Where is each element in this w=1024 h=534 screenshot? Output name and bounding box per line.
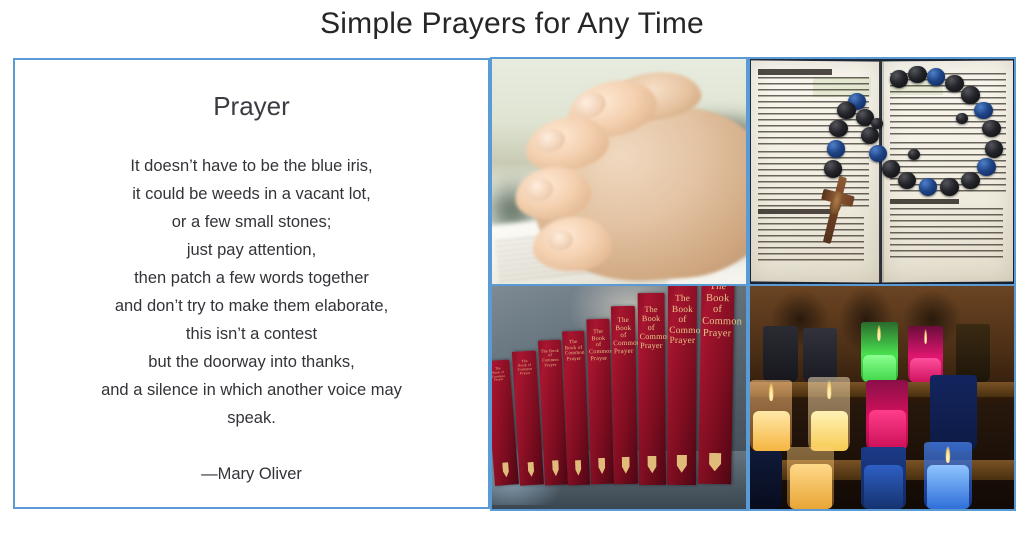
votive-candle [956, 324, 990, 382]
rosary-bead [871, 118, 883, 129]
rosary-bead [908, 149, 920, 160]
rosary-bead [977, 158, 995, 176]
votive-candle [924, 442, 972, 509]
votive-candle [861, 447, 906, 509]
book-spine: The Book of Common Prayer [562, 330, 589, 485]
shield-icon [552, 460, 559, 476]
poem-body: It doesn’t have to be the blue iris, it … [15, 152, 488, 432]
page-title: Simple Prayers for Any Time [0, 4, 1024, 44]
shield-icon [527, 462, 534, 477]
book-spine-label: The Book of Common Prayer [613, 317, 634, 356]
book-spine: The Book of Common Prayer [698, 286, 735, 485]
poem-line: and don’t try to make them elaborate, [33, 292, 470, 320]
rosary-bead [940, 178, 958, 196]
poem-line: or a few small stones; [33, 208, 470, 236]
rosary-bead [956, 113, 968, 124]
votive-candle [808, 377, 850, 451]
book-spine-label: The Book of Common Prayer [669, 294, 696, 347]
photo-praying-hands [490, 57, 748, 286]
book-spine: The Book of Common Prayer [638, 293, 666, 485]
book-spine: The Book of Common Prayer [586, 319, 613, 485]
poem-line: it could be weeds in a vacant lot, [33, 180, 470, 208]
votive-candle [908, 326, 942, 382]
votive-candle [861, 322, 898, 382]
shield-icon [598, 458, 605, 475]
book-spine: The Book of Common Prayer [667, 286, 697, 485]
rosary-bead [985, 140, 1003, 158]
rosary-bead [829, 120, 847, 138]
poem-panel: Prayer It doesn’t have to be the blue ir… [13, 58, 490, 509]
shield-icon [575, 460, 582, 476]
book-spine-label: The Book of Common Prayer [541, 348, 560, 368]
votive-candle [866, 380, 908, 451]
book-spine-label: The Book of Common Prayer [640, 304, 664, 350]
votive-candle [750, 380, 792, 451]
poem-attribution: —Mary Oliver [15, 460, 488, 488]
shield-icon [502, 462, 509, 477]
rosary-bead [827, 140, 845, 158]
book-spine-label: The Book of Common Prayer [589, 329, 609, 363]
poem-line: this isn’t a contest [33, 320, 470, 348]
rosary-bead [882, 160, 900, 178]
rosary-bead [908, 66, 926, 84]
photo-prayer-book-rosary [748, 57, 1016, 286]
poem-line: then patch a few words together [33, 264, 470, 292]
rosary-bead [927, 68, 945, 86]
rosary-bead [974, 102, 992, 120]
poem-line: just pay attention, [33, 236, 470, 264]
rosary-bead [837, 102, 855, 120]
votive-candle [787, 447, 835, 509]
book-spine: The Book of Common Prayer [611, 306, 638, 485]
rosary-bead [869, 145, 887, 163]
photo-votive-candles [748, 284, 1016, 511]
votive-candle [750, 451, 782, 509]
book-spine-label: The Book of Common Prayer [565, 340, 584, 363]
votive-candle [803, 328, 837, 382]
poem-line: It doesn’t have to be the blue iris, [33, 152, 470, 180]
rosary-bead [961, 86, 979, 104]
votive-candle [930, 375, 978, 451]
photo-book-of-common-prayer-row: The Book of Common Prayer The Book of Co… [490, 284, 748, 511]
rosary-bead [961, 172, 979, 190]
votive-candle [763, 326, 797, 382]
photo-grid: The Book of Common Prayer The Book of Co… [490, 57, 1016, 511]
rosary-bead [890, 70, 908, 88]
rosary-bead [945, 75, 963, 93]
poem-line: and a silence in which another voice may [33, 376, 470, 404]
book-spine-label: The Book of Common Prayer [517, 358, 533, 375]
slide-content: Prayer It doesn’t have to be the blue ir… [13, 57, 1016, 511]
poem-heading: Prayer [15, 90, 488, 122]
book-spine-label: The Book of Common Prayer [492, 367, 505, 382]
rosary-bead [919, 178, 937, 196]
rosary-bead [982, 120, 1000, 138]
book-spine-label: The Book of Common Prayer [702, 286, 733, 340]
poem-line: speak. [33, 404, 470, 432]
shield-icon [622, 457, 630, 474]
shield-icon [648, 456, 657, 473]
shield-icon [677, 454, 688, 472]
poem-line: but the doorway into thanks, [33, 348, 470, 376]
shield-icon [708, 453, 721, 472]
